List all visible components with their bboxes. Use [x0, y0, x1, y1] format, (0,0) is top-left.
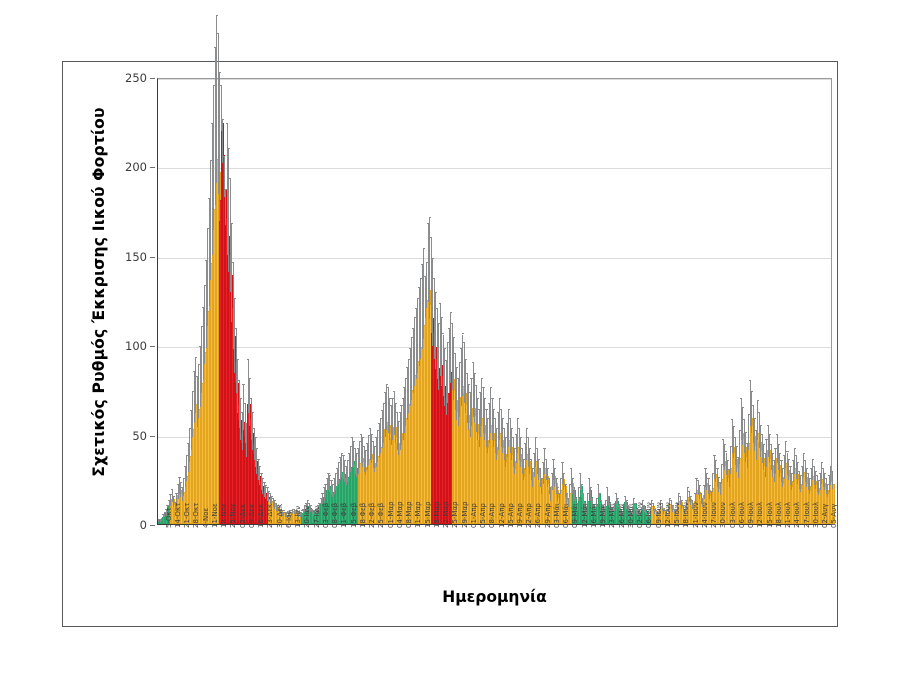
x-axis-tick-label: 06-Ιουν — [645, 502, 653, 528]
x-axis-tick-label: 01-Απρ — [470, 503, 478, 528]
x-axis-tick-label: 26-Μάι — [618, 504, 626, 528]
x-axis-tick-label: 24-Ιουν — [701, 502, 709, 528]
x-axis-tick-label: 09-Μάι — [571, 504, 579, 528]
y-axis-tick-mark — [150, 346, 155, 347]
x-axis-tick-label: 30-Ιουν — [719, 502, 727, 528]
y-axis-tick-label: 150 — [125, 250, 147, 264]
x-axis-tick-label: 30-Δεκ — [276, 504, 284, 528]
x-axis-tick-label: 25-Φεβ — [377, 503, 385, 528]
y-axis-tick-mark — [150, 78, 155, 79]
x-axis-tick-label: 08-Απρ — [488, 503, 496, 528]
x-axis-title: Ημερομηνία — [157, 588, 832, 606]
x-axis-tick-label: 11-Φεβ — [340, 503, 348, 528]
x-axis-tick-label: 22-Απρ — [525, 503, 533, 528]
x-axis-tick-label: 18-Νοε — [220, 503, 228, 528]
x-axis-tick-label: 18-Φεβ — [359, 503, 367, 528]
y-axis-tick-mark — [150, 436, 155, 437]
x-axis-tick-label: 08-Μαρ — [405, 501, 413, 528]
x-axis-tick-label: 21-Ιουλ — [784, 502, 792, 528]
x-axis-tick-label: 30-Μάι — [627, 504, 635, 528]
y-axis-tick-label: 0 — [140, 518, 147, 532]
x-axis-tick-label: 15-Φεβ — [350, 503, 358, 528]
x-axis-tick-label: 02-Αυγ — [821, 504, 829, 528]
x-axis-tick-label: 22-Μαρ — [442, 501, 450, 528]
x-axis-tick-label: 23-Μάι — [608, 504, 616, 528]
x-axis-tick-label: 22-Φεβ — [368, 503, 376, 528]
x-axis-tick-label: 05-Απρ — [479, 503, 487, 528]
x-axis-tick-label: 15-Μαρ — [424, 501, 432, 528]
x-axis-tick-label: 21-Οκτ — [183, 503, 191, 528]
x-axis-tick-label: 01-Μαρ — [387, 501, 395, 528]
x-axis-tick-label: 03-Μάι — [553, 504, 561, 528]
error-bar-cap — [831, 471, 833, 472]
y-axis-title: Σχετικός Ρυθμός Έκκρισης Ιικού Φορτίου — [90, 77, 108, 507]
x-axis-tick-label: 4-Νοε — [202, 508, 210, 528]
x-axis-tick-label: 27-Ιαν — [313, 506, 321, 528]
error-bar-cap — [216, 15, 218, 16]
x-axis-tick-labels: 5-Οκτ14-Οκτ21-Οκτ28-Οκτ4-Νοε11-Νοε18-Νοε… — [157, 528, 832, 580]
x-axis-tick-label: 6-Ιαν — [285, 510, 293, 528]
x-axis-tick-label: 18-Ιουλ — [775, 502, 783, 528]
x-axis-tick-label: 12-Ιουν — [664, 502, 672, 528]
x-axis-tick-label: 12-Μάι — [581, 504, 589, 528]
x-axis-tick-label: 16-Δεκ — [257, 504, 265, 528]
x-axis-tick-label: 15-Απρ — [507, 503, 515, 528]
x-axis-tick-label: 27-Ιουν — [710, 502, 718, 528]
x-axis-tick-label: 09-Ιουλ — [747, 502, 755, 528]
x-axis-tick-label: 13-Ιαν — [294, 506, 302, 528]
x-axis-tick-label: 09-Ιουν — [655, 502, 663, 528]
x-axis-tick-label: 25-Μαρ — [451, 501, 459, 528]
error-bar-cap — [219, 72, 221, 73]
bar-series — [158, 79, 831, 524]
x-axis-tick-label: 06-Μάι — [562, 504, 570, 528]
x-axis-tick-label: 12-Απρ — [498, 503, 506, 528]
x-axis-tick-label: 04-Μαρ — [396, 501, 404, 528]
x-axis-tick-label: 16-Μάι — [590, 504, 598, 528]
x-axis-tick-label: 20-Ιαν — [303, 506, 311, 528]
x-axis-tick-label: 06-Ιουλ — [738, 502, 746, 528]
chart-screenshot: Σχετικός Ρυθμός Έκκρισης Ιικού Φορτίου 0… — [0, 0, 900, 695]
x-axis-tick-label: 03-Φεβ — [322, 503, 330, 528]
x-axis-tick-label: 09-Δεκ — [248, 504, 256, 528]
x-axis-tick-label: 27-Ιουλ — [803, 502, 811, 528]
y-axis-tick-mark — [150, 167, 155, 168]
x-axis-tick-label: 28-Οκτ — [192, 503, 200, 528]
y-axis-tick-label: 100 — [125, 339, 147, 353]
bar-slot — [832, 77, 833, 524]
y-axis-tick-mark — [150, 257, 155, 258]
x-axis-tick-label: 21-Ιουν — [692, 502, 700, 528]
x-axis-tick-label: 14-Οκτ — [174, 503, 182, 528]
x-axis-tick-label: 29-Μαρ — [461, 501, 469, 528]
x-axis-tick-label: 25-Νοε — [229, 503, 237, 528]
y-axis-tick-label: 200 — [125, 160, 147, 174]
x-axis-tick-label: 23-Δεκ — [266, 504, 274, 528]
x-axis-tick-label: 02-Δεκ — [239, 504, 247, 528]
plot-area — [157, 78, 832, 525]
x-axis-tick-label: 24-Ιουλ — [793, 502, 801, 528]
x-axis-tick-label: 30-Ιουλ — [812, 502, 820, 528]
x-axis-tick-label: 26-Απρ — [534, 503, 542, 528]
y-axis-tick-label: 250 — [125, 71, 147, 85]
y-axis: Σχετικός Ρυθμός Έκκρισης Ιικού Φορτίου 0… — [62, 61, 157, 627]
x-axis-tick-label: 11-Μαρ — [414, 501, 422, 528]
y-axis-tick-label: 50 — [132, 429, 147, 443]
error-bar-cap — [217, 33, 219, 34]
x-axis-tick-label: 18-Ιουν — [682, 502, 690, 528]
x-axis-tick-label: 15-Ιουλ — [766, 502, 774, 528]
x-axis-tick-label: 12-Ιουλ — [756, 502, 764, 528]
y-axis-tick-mark — [150, 525, 155, 526]
error-bar — [832, 472, 833, 488]
x-axis-tick-label: 11-Νοε — [211, 503, 219, 528]
x-axis-tick-label: 02-Ιουν — [636, 502, 644, 528]
x-axis-tick-label: 05-Αυγ — [830, 504, 838, 528]
x-axis-tick-label: 08-Φεβ — [331, 503, 339, 528]
x-axis-tick-label: 18-Μαρ — [433, 501, 441, 528]
x-axis-tick-label: 19-Μάι — [599, 504, 607, 528]
x-axis-tick-label: 03-Ιουλ — [729, 502, 737, 528]
x-axis-tick-label: 15-Ιουν — [673, 502, 681, 528]
x-axis-tick-label: 29-Απρ — [544, 503, 552, 528]
x-axis-tick-label: 5-Οκτ — [165, 507, 173, 528]
x-axis-tick-label: 19-Απρ — [516, 503, 524, 528]
